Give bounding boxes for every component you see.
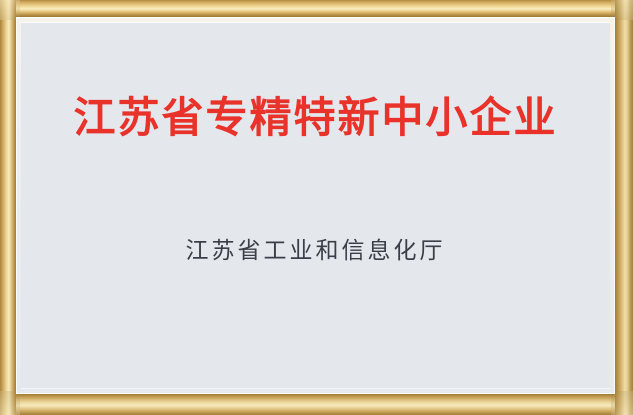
frame-corner-bottom-right [611,391,633,415]
plaque-panel: 江苏省专精特新中小企业 江苏省工业和信息化厅 [21,22,610,389]
frame-band-right [615,0,633,415]
plaque-title: 江苏省专精特新中小企业 [21,94,610,142]
award-plaque: 江苏省专精特新中小企业 江苏省工业和信息化厅 [0,0,633,415]
frame-corner-bottom-left [0,391,20,415]
frame-band-bottom [0,394,633,415]
frame-band-left [0,0,16,415]
plaque-issuer: 江苏省工业和信息化厅 [21,238,610,266]
frame-band-top [0,0,633,17]
